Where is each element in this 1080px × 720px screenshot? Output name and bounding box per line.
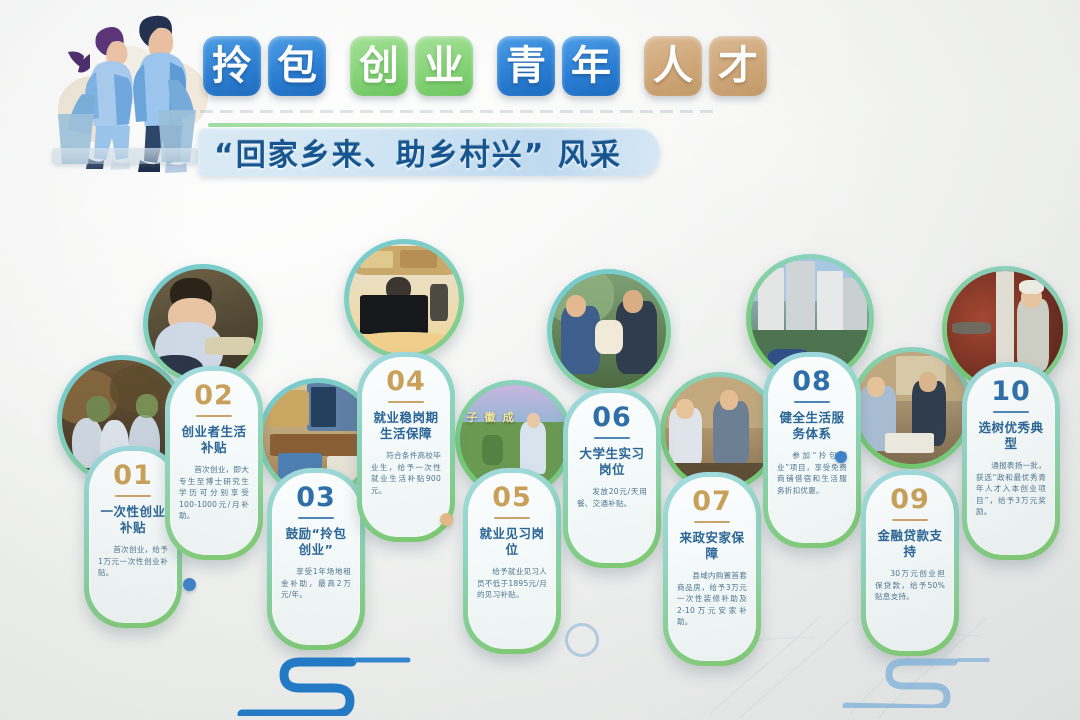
title-tile-6: 年 [562,36,620,96]
card-body: 县域内购置首套商品房，给予3万元一次性装修补助及2-10万元安家补助。 [677,570,747,628]
card-body: 发放20元/天用餐、交通补贴。 [577,486,647,509]
info-card-02[interactable]: 02 创业者生活补贴 首次创业，即大专生至博士研究生学历可分别享受100-100… [165,366,263,560]
card-number: 04 [371,368,441,395]
title-tile-3: 创 [350,36,408,96]
info-card-03[interactable]: 03 鼓励“拎包创业” 享受1年场地租金补助，最高2万元/年。 [267,468,365,650]
photo-caption-overlay: 子 徽 成 [466,409,515,425]
card-number: 03 [281,484,351,511]
decor-dot-tan [440,513,453,526]
info-card-05[interactable]: 05 就业见习岗位 给予就业见习人员不低于1895元/月的见习补贴。 [463,468,561,654]
photo-person-at-desk-computer [344,239,464,359]
title-tile-7: 人 [644,36,702,96]
card-divider [115,495,151,497]
card-number: 06 [577,404,647,431]
info-card-10[interactable]: 10 选树优秀典型 通报表扬一批，获选“政和最优秀青年人才入本创业项目”，给予3… [962,362,1060,560]
two-students-with-backpacks-illustration [52,2,204,178]
card-number: 01 [98,462,168,489]
subtitle-text: “回家乡来、助乡村兴” 风采 [214,130,622,174]
decor-dot-blue-left [183,578,196,591]
card-number: 02 [179,382,249,409]
title-underline-hairline [200,110,720,113]
card-divider [694,521,730,523]
decor-ring-outline [565,623,599,657]
card-divider [594,437,630,439]
card-number: 05 [477,484,547,511]
decor-cloud-line-left [120,650,420,716]
decor-cloud-line-center [736,648,996,708]
card-number: 08 [777,368,847,395]
info-card-08[interactable]: 08 健全生活服务体系 参加“拎包创业”项目，享受免费商铺借宿和生活服务折扣优惠… [763,352,861,548]
card-body: 首次创业，即大专生至博士研究生学历可分别享受100-1000元/月补助。 [179,464,249,522]
card-title: 大学生实习岗位 [577,446,647,478]
card-body: 享受1年场地租金补助，最高2万元/年。 [281,566,351,601]
info-card-07[interactable]: 07 来政安家保障 县域内购置首套商品房，给予3万元一次性装修补助及2-10万元… [663,472,761,666]
card-divider [388,401,424,403]
card-title: 创业者生活补贴 [179,424,249,456]
card-number: 10 [976,378,1046,405]
card-divider [794,401,830,403]
card-divider [298,517,334,519]
acrylic-base-plate [52,148,198,164]
card-title: 一次性创业补贴 [98,504,168,536]
card-title: 金融贷款支持 [875,528,945,560]
card-title: 来政安家保障 [677,530,747,562]
photo-family-with-child [547,269,671,393]
subtitle-accent-bar [208,123,646,127]
card-body: 首次创业，给予1万元一次性创业补贴。 [98,544,168,579]
card-body: 符合条件高校毕业生，给予一次性就业生活补贴900元。 [371,450,441,496]
card-divider [892,519,928,521]
subtitle-banner: “回家乡来、助乡村兴” 风采 [198,128,660,176]
title-tile-4: 业 [415,36,473,96]
decor-dot-blue-right [835,451,847,463]
title-tile-5: 青 [497,36,555,96]
title-tile-1: 拎 [203,36,261,96]
card-title: 选树优秀典型 [976,420,1046,452]
card-body: 给予就业见习人员不低于1895元/月的见习补贴。 [477,566,547,601]
exhibition-wall-photo: 拎包创业青年人才 “回家乡来、助乡村兴” 风采 [0,0,1080,720]
card-title: 健全生活服务体系 [777,410,847,442]
card-body: 通报表扬一批，获选“政和最优秀青年人才入本创业项目”，给予3万元奖励。 [976,460,1046,518]
info-card-06[interactable]: 06 大学生实习岗位 发放20元/天用餐、交通补贴。 [563,388,661,568]
card-divider [494,517,530,519]
card-number: 07 [677,488,747,515]
card-body: 30万元创业担保贷款，给予50%贴息支持。 [875,568,945,603]
card-title: 鼓励“拎包创业” [281,526,351,558]
card-divider [196,415,232,417]
info-card-09[interactable]: 09 金融贷款支持 30万元创业担保贷款，给予50%贴息支持。 [861,470,959,656]
title-tile-8: 才 [709,36,767,96]
title-tile-2: 包 [268,36,326,96]
card-title: 就业稳岗期生活保障 [371,410,441,442]
card-number: 09 [875,486,945,513]
card-title: 就业见习岗位 [477,526,547,558]
card-divider [993,411,1029,413]
main-title: 拎包创业青年人才 [203,36,767,96]
info-card-04[interactable]: 04 就业稳岗期生活保障 符合条件高校毕业生，给予一次性就业生活补贴900元。 [357,352,455,542]
